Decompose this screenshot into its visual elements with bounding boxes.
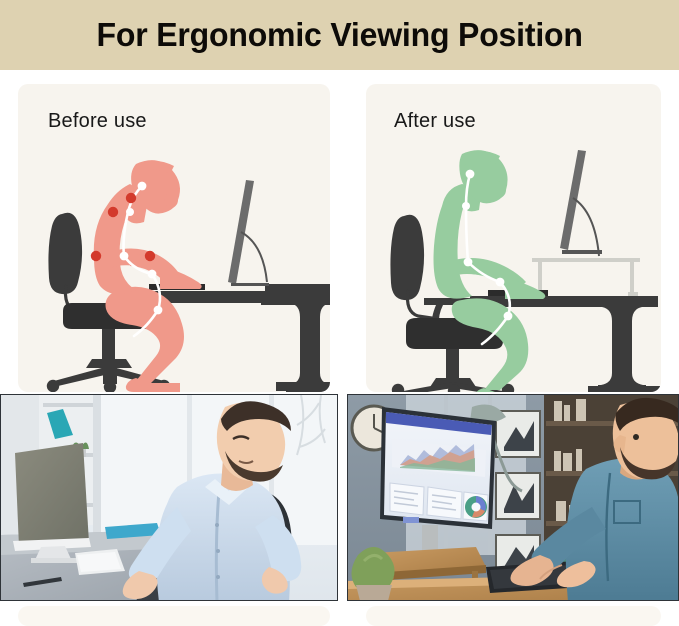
next-section-peek-right xyxy=(366,606,661,626)
monitor-after xyxy=(560,150,602,256)
panel-after-use: After use xyxy=(366,84,661,392)
monitor-riser-stand xyxy=(532,258,640,296)
panel-label-after: After use xyxy=(394,110,476,133)
monitor-before xyxy=(228,180,269,286)
photo-before-use xyxy=(0,394,338,601)
page-title: For Ergonomic Viewing Position xyxy=(96,16,582,54)
photo-after-use-image xyxy=(348,395,678,600)
panel-before-use: Before use xyxy=(18,84,330,392)
panel-label-before: Before use xyxy=(48,110,147,133)
header-banner: For Ergonomic Viewing Position xyxy=(0,0,679,70)
photo-before-use-image xyxy=(1,395,337,600)
illustration-before-use xyxy=(18,140,330,392)
illustration-after-use xyxy=(366,140,661,392)
photo-after-use xyxy=(347,394,679,601)
next-section-peek-left xyxy=(18,606,330,626)
